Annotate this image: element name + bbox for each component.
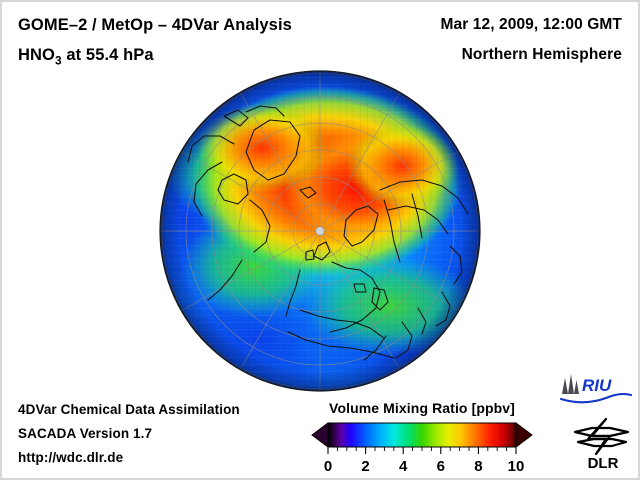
species-formula-prefix: HNO [18, 46, 55, 64]
footer-line-assimilation: 4DVar Chemical Data Assimilation [18, 402, 240, 417]
page-title: GOME–2 / MetOp – 4DVar Analysis [18, 16, 292, 35]
riu-towers-icon [562, 374, 579, 394]
colorbar-tick-label: 0 [324, 458, 332, 475]
colorbar-gradient [328, 423, 516, 447]
footer-line-url: http://wdc.dlr.de [18, 450, 240, 465]
riu-swoosh-icon [561, 394, 631, 402]
colorbar-right-cap [516, 423, 532, 447]
globe-map [150, 70, 492, 394]
footer-line-version: SACADA Version 1.7 [18, 426, 240, 441]
colorbar-left-cap [312, 423, 328, 447]
riu-logo: RIU [558, 372, 634, 406]
dlr-logo: DLR [572, 416, 634, 474]
colorbar-minor-ticks [337, 447, 506, 451]
figure-canvas: GOME–2 / MetOp – 4DVar Analysis HNO3 at … [0, 0, 640, 480]
hemisphere-label: Northern Hemisphere [462, 46, 622, 64]
colorbar-tick-label: 8 [474, 458, 482, 475]
colorbar-tick-label: 2 [361, 458, 369, 475]
riu-wordmark: RIU [582, 376, 612, 395]
north-pole-marker [316, 227, 324, 235]
footer-text-block: 4DVar Chemical Data Assimilation SACADA … [18, 402, 240, 474]
dlr-bird-icon [575, 419, 628, 454]
colorbar-tick-labels: 0 2 4 6 8 10 [324, 458, 525, 475]
colorbar: Volume Mixing Ratio [ppbv] [308, 400, 536, 477]
colorbar-tick-label: 4 [399, 458, 408, 475]
species-level-label: HNO3 at 55.4 hPa [18, 46, 154, 67]
colorbar-tick-label: 6 [437, 458, 445, 475]
valid-time-label: Mar 12, 2009, 12:00 GMT [440, 16, 622, 34]
species-formula-subscript: 3 [55, 53, 62, 67]
dlr-wordmark: DLR [588, 455, 619, 472]
colorbar-title: Volume Mixing Ratio [ppbv] [308, 400, 536, 416]
colorbar-tick-label: 10 [508, 458, 525, 475]
species-level-suffix: at 55.4 hPa [62, 46, 154, 64]
